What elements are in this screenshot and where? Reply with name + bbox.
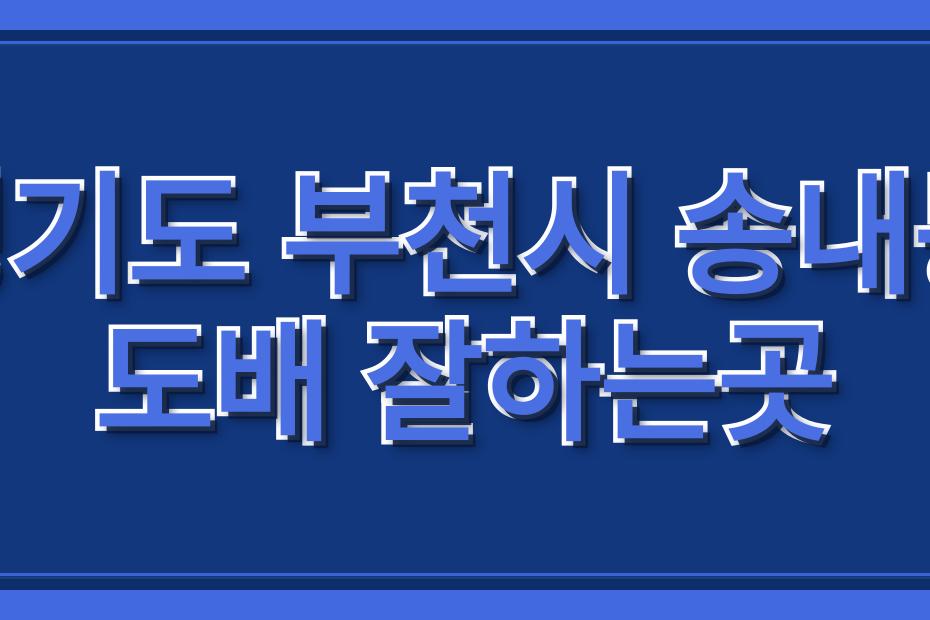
bottom-accent-band	[0, 590, 930, 620]
headline-line-1: 경기도 부천시 송내동	[0, 166, 930, 309]
top-accent-band	[0, 0, 930, 30]
bottom-dark-band	[0, 579, 930, 590]
headline-line-2: 도배 잘하는곳	[95, 314, 835, 454]
headline-block: 경기도 부천시 송내동 도배 잘하는곳	[0, 46, 930, 574]
bottom-hairline-rule	[0, 573, 930, 576]
thumbnail-banner: 경기도 부천시 송내동 도배 잘하는곳	[0, 0, 930, 620]
top-dark-band	[0, 30, 930, 41]
